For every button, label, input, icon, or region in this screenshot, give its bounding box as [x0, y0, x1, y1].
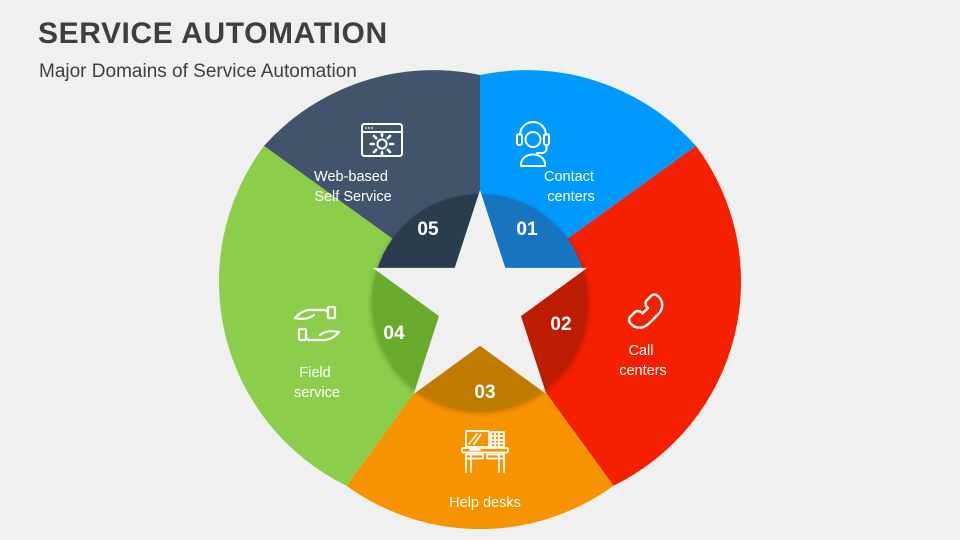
segment-number-04: 04 — [383, 323, 405, 344]
service-automation-wheel-chart: Contact centers Call centers Help desks … — [0, 0, 960, 540]
segment-number-02: 02 — [550, 314, 571, 335]
segment-label-help-desks: Help desks — [449, 495, 521, 511]
segment-number-05: 05 — [417, 219, 439, 240]
slide-canvas: SERVICE AUTOMATION Major Domains of Serv… — [0, 0, 960, 540]
segment-number-01: 01 — [516, 219, 538, 240]
segment-number-03: 03 — [474, 382, 495, 403]
